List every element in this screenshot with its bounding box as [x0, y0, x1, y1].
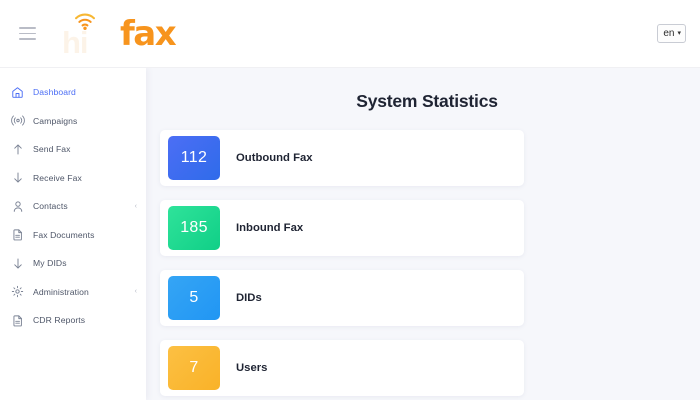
home-icon	[10, 85, 25, 99]
arrow-down-icon	[10, 256, 25, 270]
sidebar-item-label: Dashboard	[33, 87, 137, 97]
language-value: en	[663, 28, 674, 39]
stat-cards-grid: 112Outbound Fax185Inbound Fax5DIDs7Users…	[160, 130, 700, 400]
chevron-down-icon: ▾	[677, 30, 681, 38]
sidebar-item-label: Contacts	[33, 201, 135, 211]
sidebar-item-cdr-reports[interactable]: CDR Reports	[0, 306, 146, 335]
stat-card-inbound-fax[interactable]: 185Inbound Fax	[160, 200, 524, 256]
sidebar-item-administration[interactable]: Administration‹	[0, 278, 146, 307]
document-icon	[10, 228, 25, 242]
stat-label: Outbound Fax	[236, 152, 313, 164]
gear-icon	[10, 285, 25, 299]
sidebar-item-my-dids[interactable]: My DIDs	[0, 249, 146, 278]
hamburger-line	[19, 38, 36, 40]
sidebar-item-label: Send Fax	[33, 144, 137, 154]
body-wrapper: DashboardCampaignsSend FaxReceive FaxCon…	[0, 68, 700, 400]
stat-card-users[interactable]: 7Users	[160, 340, 524, 396]
stat-card-outbound-fax[interactable]: 112Outbound Fax	[160, 130, 524, 186]
sidebar-item-label: Receive Fax	[33, 173, 137, 183]
language-selector[interactable]: en ▾	[657, 24, 686, 43]
stat-card-dids[interactable]: 5DIDs	[160, 270, 524, 326]
arrow-down-icon	[10, 171, 25, 185]
main-content: System Statistics 112Outbound Fax185Inbo…	[146, 68, 700, 400]
sidebar-nav: DashboardCampaignsSend FaxReceive FaxCon…	[0, 68, 146, 400]
sidebar-item-label: Campaigns	[33, 116, 137, 126]
sidebar-item-send-fax[interactable]: Send Fax	[0, 135, 146, 164]
broadcast-icon	[10, 114, 25, 128]
app-root: hi fax en ▾ DashboardCampaignsSend FaxRe…	[0, 0, 700, 400]
hamburger-menu-icon[interactable]	[12, 19, 42, 49]
brand-name: fax	[120, 17, 175, 51]
stat-value-badge: 5	[168, 276, 220, 320]
stat-label: Users	[236, 362, 267, 374]
page-title: System Statistics	[160, 91, 700, 112]
stat-value-badge: 7	[168, 346, 220, 390]
sidebar-item-campaigns[interactable]: Campaigns	[0, 107, 146, 136]
brand-logo[interactable]: hi fax	[60, 0, 175, 67]
top-bar: hi fax en ▾	[0, 0, 700, 68]
arrow-up-icon	[10, 142, 25, 156]
document-icon	[10, 313, 25, 327]
sidebar-item-label: Administration	[33, 287, 135, 297]
hamburger-line	[19, 27, 36, 29]
sidebar-item-dashboard[interactable]: Dashboard	[0, 78, 146, 107]
stat-label: DIDs	[236, 292, 262, 304]
sidebar-item-contacts[interactable]: Contacts‹	[0, 192, 146, 221]
chevron-left-icon: ‹	[135, 203, 137, 210]
sidebar-item-label: Fax Documents	[33, 230, 137, 240]
stat-value-badge: 112	[168, 136, 220, 180]
stat-label: Inbound Fax	[236, 222, 303, 234]
stat-value-badge: 185	[168, 206, 220, 250]
chevron-left-icon: ‹	[135, 288, 137, 295]
sidebar-item-label: CDR Reports	[33, 315, 137, 325]
brand-mark: hi	[60, 11, 118, 57]
user-icon	[10, 199, 25, 213]
hamburger-line	[19, 33, 36, 35]
sidebar-item-fax-documents[interactable]: Fax Documents	[0, 221, 146, 250]
sidebar-item-label: My DIDs	[33, 258, 137, 268]
sidebar-item-receive-fax[interactable]: Receive Fax	[0, 164, 146, 193]
brand-ghost-text: hi	[62, 27, 88, 58]
